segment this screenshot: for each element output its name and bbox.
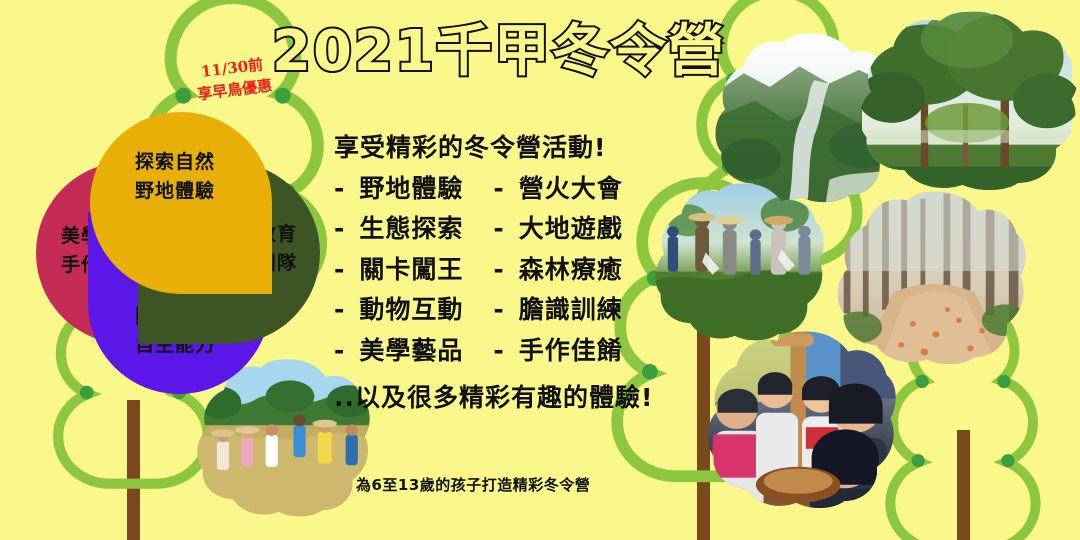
activity-dash: - — [493, 296, 504, 324]
page-title: 2021千甲冬令營 — [272, 24, 726, 80]
photo-kids-pounding — [706, 330, 898, 510]
activity-dash: - — [493, 175, 504, 203]
photo-forest-path — [836, 190, 1028, 366]
activity-headline: 享受精彩的冬令營活動! — [334, 134, 654, 162]
tree-decoration-bottom-right — [890, 301, 1035, 540]
activity-dash: - — [493, 215, 504, 243]
petal-explore-nature-line1: 探索自然 — [135, 148, 215, 177]
activity-item-left: 關卡闖王 — [359, 256, 479, 284]
early-bird-note: 11/30前 享早鳥優惠 — [194, 54, 274, 106]
activity-row: - 野地體驗 - 營火大會 — [334, 175, 654, 203]
activity-row: - 動物互動 - 膽識訓練 — [334, 296, 654, 324]
photo-park-trees — [858, 10, 1080, 192]
activity-dash: - — [334, 256, 345, 284]
poster-canvas: 11/30前 享早鳥優惠 2021千甲冬令營 探索自然 野地體驗 食農教育 千甲… — [0, 0, 1080, 540]
activity-dash: - — [334, 175, 345, 203]
activity-item-right: 森林療癒 — [519, 256, 639, 284]
flower-diagram: 探索自然 野地體驗 食農教育 千甲團隊 團隊合作 自主能力 美學藝品 手作佳餚 — [18, 112, 328, 402]
activity-item-right: 膽識訓練 — [519, 296, 639, 324]
petal-explore-nature-line2: 野地體驗 — [135, 177, 215, 206]
activity-copy-block: 享受精彩的冬令營活動! - 野地體驗 - 營火大會 - 生態探索 - 大地遊戲 … — [334, 134, 654, 414]
activity-dash: - — [493, 337, 504, 365]
activity-dash: - — [334, 337, 345, 365]
photo-river-valley — [714, 32, 900, 204]
activity-item-right: 大地遊戲 — [519, 215, 639, 243]
age-note: 為6至13歲的孩子打造精彩冬令營 — [356, 474, 590, 495]
activity-row: - 關卡闖王 - 森林療癒 — [334, 256, 654, 284]
activity-row: - 生態探索 - 大地遊戲 — [334, 215, 654, 243]
activity-dash: - — [334, 296, 345, 324]
photo-kids-field-work — [654, 182, 826, 342]
activity-item-left: 野地體驗 — [359, 175, 479, 203]
activity-item-left: 生態探索 — [359, 215, 479, 243]
activity-dash: - — [493, 256, 504, 284]
activity-item-right: 營火大會 — [519, 175, 639, 203]
activity-row: - 美學藝品 - 手作佳餚 — [334, 337, 654, 365]
activity-item-right: 手作佳餚 — [519, 337, 639, 365]
activity-item-left: 美學藝品 — [359, 337, 479, 365]
activity-dash: - — [334, 215, 345, 243]
activity-closing: ..以及很多精彩有趣的體驗! — [334, 378, 654, 414]
petal-explore-nature[interactable]: 探索自然 野地體驗 — [90, 112, 272, 294]
activity-item-left: 動物互動 — [359, 296, 479, 324]
